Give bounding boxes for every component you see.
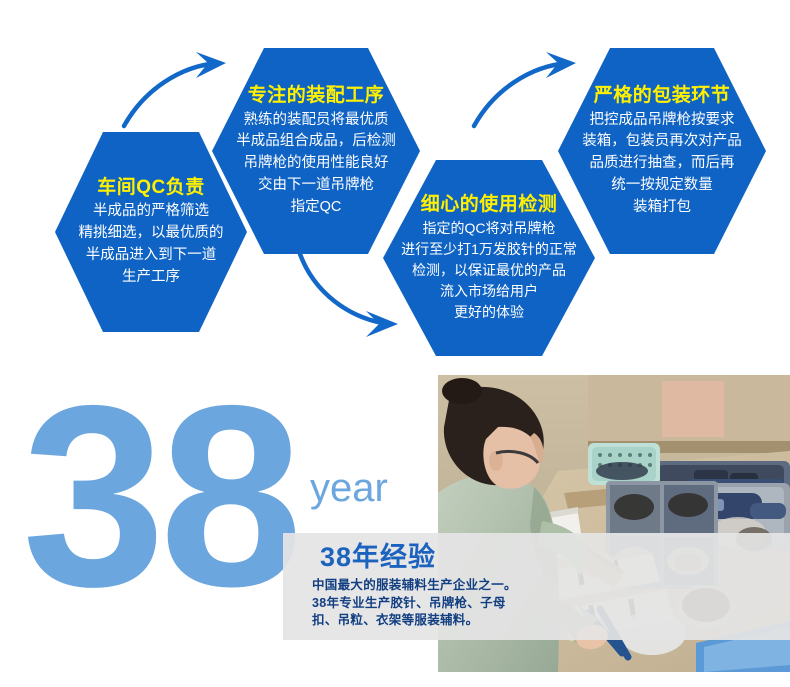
step-line: 半成品进入到下一道 — [86, 245, 217, 267]
arrow-step1-to-step2-icon — [118, 50, 238, 130]
experience-desc-line: 38年专业生产胶针、吊牌枪、子母 — [312, 595, 506, 613]
step-line: 交由下一道吊牌枪 — [258, 175, 374, 197]
process-step-strict-packaging[interactable]: 严格的包装环节 把控成品吊牌枪按要求 装箱，包装员再次对产品 品质进行抽查，而后… — [558, 48, 766, 254]
step-title: 细心的使用检测 — [421, 193, 558, 217]
step-title: 专注的装配工序 — [248, 84, 385, 108]
experience-desc-line: 中国最大的服装辅料生产企业之一。 — [312, 577, 517, 595]
step-line: 指定的QC将对吊牌枪 — [423, 218, 556, 239]
step-line: 精挑细选，以最优质的 — [79, 223, 224, 245]
experience-section: 38 year 38年经验 中国最大的服装辅料生产企业之一。 38年专业生产胶针… — [0, 365, 790, 687]
step-line: 把控成品吊牌枪按要求 — [590, 110, 735, 132]
step-line: 吊牌枪的使用性能良好 — [244, 153, 389, 175]
infographic-page: 车间QC负责 半成品的严格筛选 精挑细选，以最优质的 半成品进入到下一道 生产工… — [0, 0, 790, 687]
step-line: 指定QC — [291, 197, 342, 219]
step-line: 熟练的装配员将最优质 — [244, 110, 389, 132]
step-line: 装箱打包 — [633, 197, 691, 219]
experience-desc-line: 扣、吊粒、衣架等服装辅料。 — [312, 612, 478, 630]
step-line: 更好的体验 — [454, 302, 524, 323]
process-step-assembly-process[interactable]: 专注的装配工序 熟练的装配员将最优质 半成品组合成品，后检测 吊牌枪的使用性能良… — [212, 48, 420, 254]
arrow-step3-to-step4-icon — [468, 50, 588, 130]
years-unit-label: year — [310, 468, 388, 508]
step-line: 流入市场给用户 — [440, 281, 538, 302]
step-line: 品质进行抽查，而后再 — [590, 153, 735, 175]
process-flow-section: 车间QC负责 半成品的严格筛选 精挑细选，以最优质的 半成品进入到下一道 生产工… — [0, 0, 790, 365]
step-line: 检测，以保证最优的产品 — [412, 260, 566, 281]
step-line: 进行至少打1万发胶针的正常 — [401, 239, 577, 260]
step-line: 装箱，包装员再次对产品 — [582, 131, 742, 153]
experience-band-title: 38年经验 — [320, 540, 436, 574]
step-title: 严格的包装环节 — [594, 84, 731, 108]
step-line: 统一按规定数量 — [611, 175, 713, 197]
step-title: 车间QC负责 — [97, 176, 205, 200]
step-line: 生产工序 — [122, 267, 180, 289]
years-big-number: 38 — [22, 367, 297, 625]
process-step-usage-inspection[interactable]: 细心的使用检测 指定的QC将对吊牌枪 进行至少打1万发胶针的正常 检测，以保证最… — [383, 160, 595, 356]
step-line: 半成品的严格筛选 — [93, 201, 209, 223]
step-line: 半成品组合成品，后检测 — [236, 131, 396, 153]
